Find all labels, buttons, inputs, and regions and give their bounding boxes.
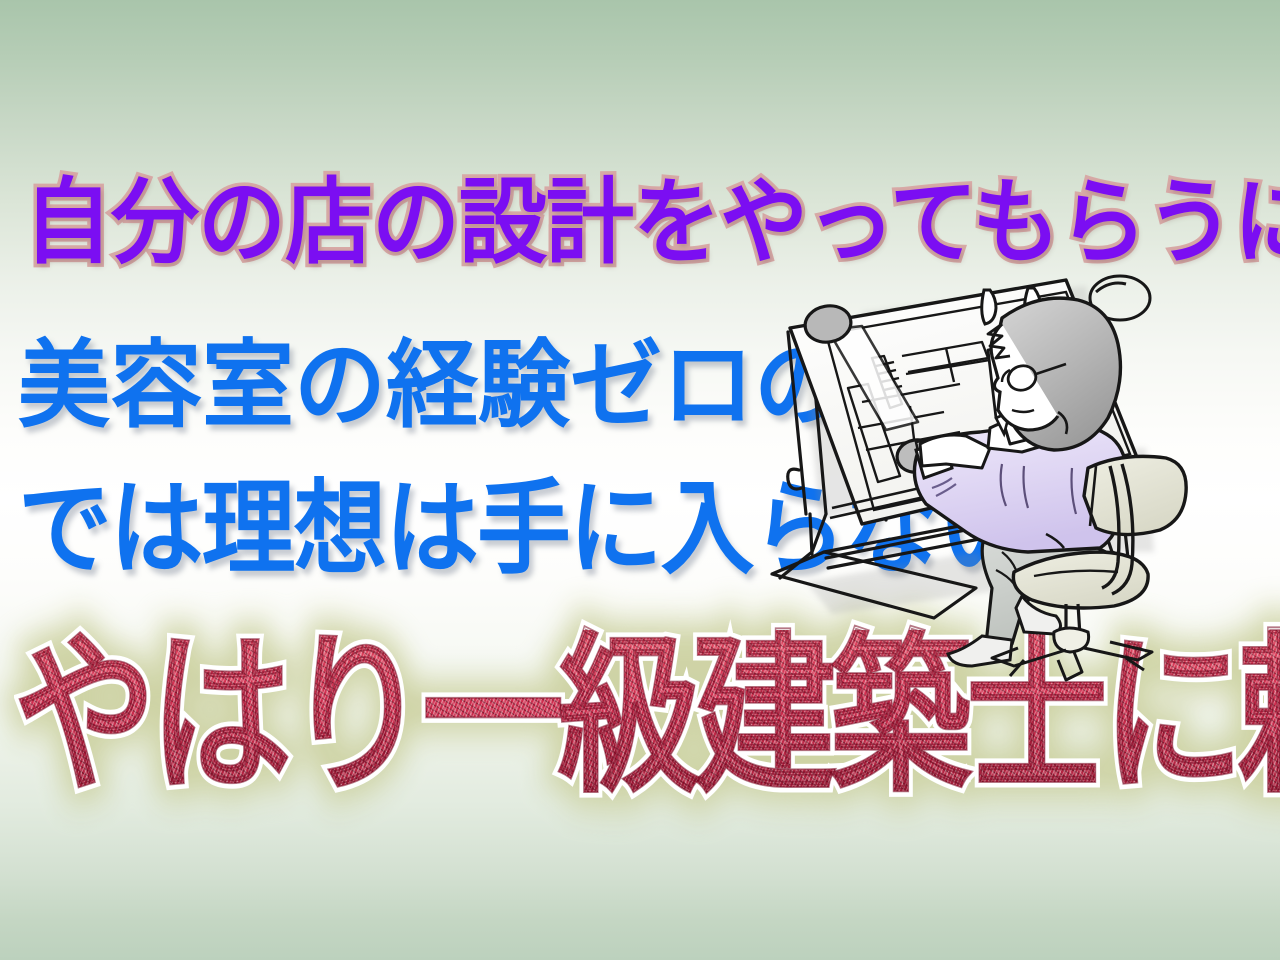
sweat-drop-icon [982,290,996,324]
slide-canvas: 自分の店の設計をやってもらうには 美容室の経験ゼロの人 では理想は手に入らない！… [0,0,1280,960]
architect-illustration [766,252,1276,682]
architect-at-drafting-table-icon [766,252,1276,682]
